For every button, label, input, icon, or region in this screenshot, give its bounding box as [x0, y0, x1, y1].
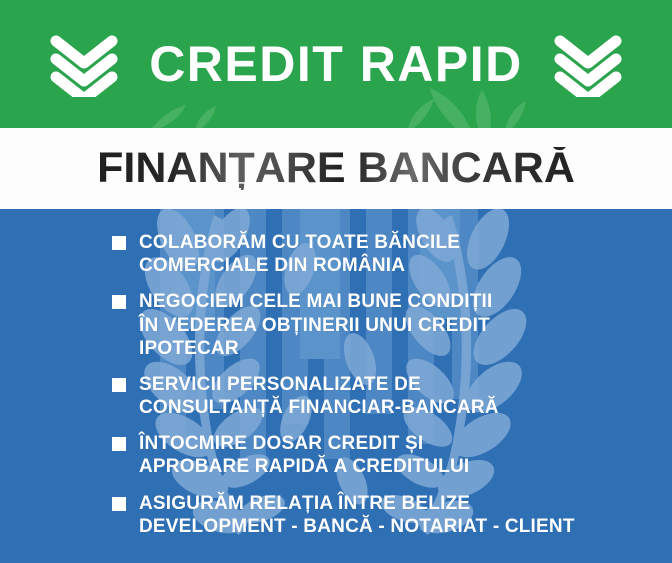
list-item-label: COLABORĂM CU TOATE BĂNCILE COMERCIALE DI…: [139, 231, 460, 277]
body-band: COLABORĂM CU TOATE BĂNCILE COMERCIALE DI…: [0, 209, 672, 563]
list-item-label: NEGOCIEM CELE MAI BUNE CONDIȚII ÎN VEDER…: [139, 290, 493, 360]
list-item-label: SERVICII PERSONALIZATE DE CONSULTANȚĂ FI…: [139, 373, 499, 419]
page-subtitle: FINANȚARE BANCARĂ: [97, 147, 575, 190]
white-square-bullet-icon: [112, 295, 126, 309]
benefits-list: COLABORĂM CU TOATE BĂNCILE COMERCIALE DI…: [0, 209, 672, 563]
page-title: CREDIT RAPID: [149, 39, 523, 89]
list-item: COLABORĂM CU TOATE BĂNCILE COMERCIALE DI…: [112, 231, 672, 277]
header-band: CREDIT RAPID: [0, 0, 672, 128]
white-square-bullet-icon: [112, 497, 126, 511]
list-item: SERVICII PERSONALIZATE DE CONSULTANȚĂ FI…: [112, 373, 672, 419]
white-square-bullet-icon: [112, 236, 126, 250]
subheader-band: FINANȚARE BANCARĂ: [0, 128, 672, 209]
promo-poster: CREDIT RAPID FINANȚARE BANCARĂ: [0, 0, 672, 563]
list-item: ÎNTOCMIRE DOSAR CREDIT ȘI APROBARE RAPID…: [112, 432, 672, 478]
triple-chevron-down-icon: [47, 31, 121, 97]
list-item: ASIGURĂM RELAȚIA ÎNTRE BELIZE DEVELOPMEN…: [112, 492, 672, 538]
list-item-label: ASIGURĂM RELAȚIA ÎNTRE BELIZE DEVELOPMEN…: [139, 492, 575, 538]
white-square-bullet-icon: [112, 378, 126, 392]
header-row: CREDIT RAPID: [0, 0, 672, 128]
list-item: NEGOCIEM CELE MAI BUNE CONDIȚII ÎN VEDER…: [112, 290, 672, 360]
list-item-label: ÎNTOCMIRE DOSAR CREDIT ȘI APROBARE RAPID…: [139, 432, 469, 478]
white-square-bullet-icon: [112, 437, 126, 451]
triple-chevron-down-icon-right: [551, 31, 625, 97]
